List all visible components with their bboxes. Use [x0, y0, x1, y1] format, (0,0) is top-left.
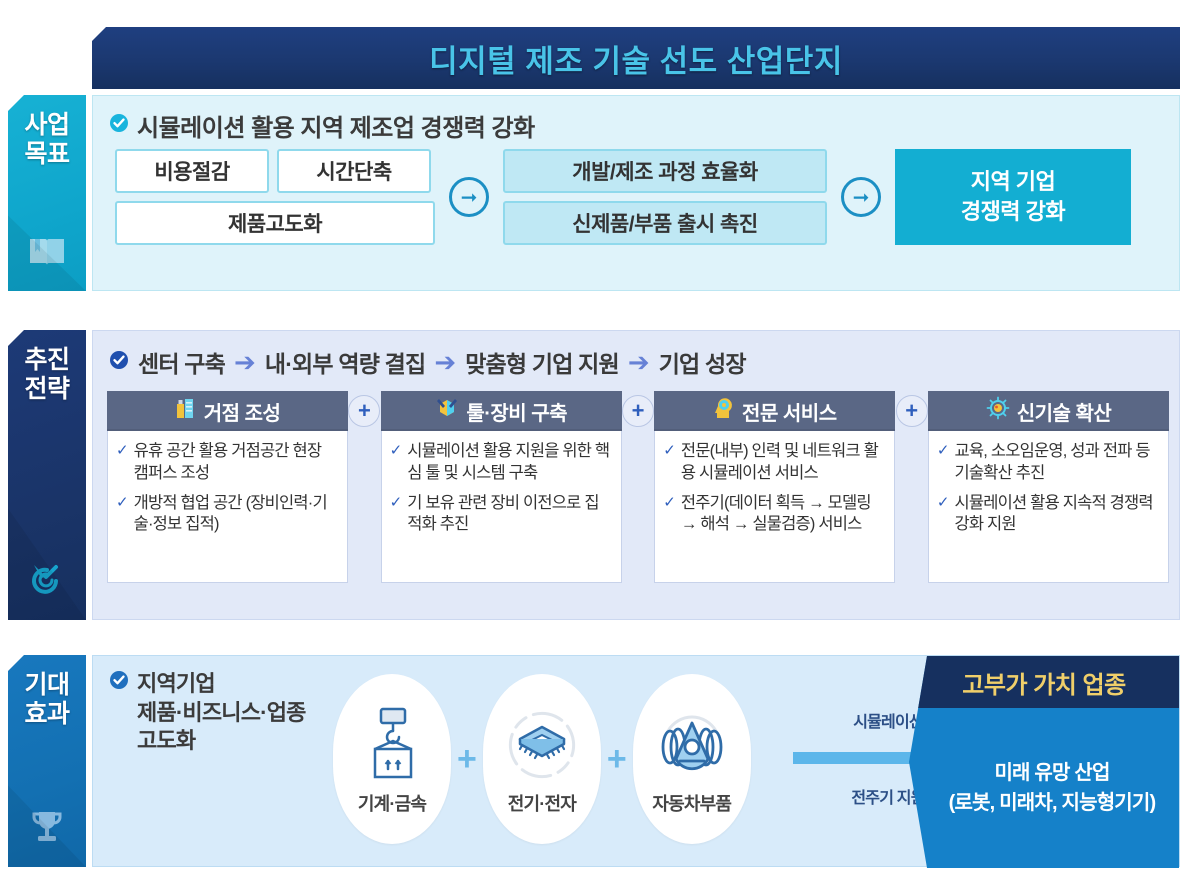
sidebar-tab-expected-effect: 기대 효과	[8, 655, 86, 867]
strategy-column-title: 거점 조성	[204, 397, 281, 426]
goal-result-box: 지역 기업 경쟁력 강화	[895, 149, 1131, 245]
strategy-flow-step: 기업 성장	[659, 345, 746, 379]
strategy-bullet-text: 교육, 소오임운영, 성과 전파 등 기술확산 추진	[955, 441, 1161, 485]
book-icon	[27, 234, 67, 275]
sidebar-tab-label-line2: 전략	[24, 375, 69, 404]
industry-label: 기계·금속	[358, 790, 426, 816]
strategy-bullet: ✓ 개방적 협업 공간 (장비인력·기술·정보 집적)	[116, 493, 339, 537]
plus-icon: +	[896, 395, 928, 427]
industry-item-machine-metal: 기계·금속	[333, 674, 451, 844]
sidebar-tab-label-line1: 추진	[24, 346, 69, 375]
section-expected-effect: 기대 효과 지역기업 제품·비즈니스·업종 고도화	[0, 655, 1200, 885]
strategy-bullet-text: 유휴 공간 활용 거점공간 현장 캠퍼스 조성	[134, 441, 340, 485]
sidebar-tab-label-line1: 사업	[24, 111, 69, 140]
strategy-column-title: 전문 서비스	[742, 397, 837, 426]
strategy-bullet-text: 기 보유 관련 장비 이전으로 집적화 추진	[407, 493, 613, 537]
arrow-right-circle-icon: ➞	[841, 177, 881, 217]
future-industry-header: 고부가 가치 업종	[909, 656, 1179, 708]
plus-icon: +	[348, 395, 380, 427]
crane-box-icon	[357, 702, 427, 788]
section-business-goal: 사업 목표 시뮬레이션 활용 지역 제조업 경쟁력 강화 비용절감 시간	[0, 95, 1200, 303]
sidebar-tab-label-line2: 목표	[24, 140, 69, 169]
strategy-bullet-text: 개방적 협업 공간 (장비인력·기술·정보 집적)	[134, 493, 340, 537]
strategy-column-body: ✓ 시뮬레이션 활용 지원을 위한 핵심 툴 및 시스템 구축 ✓ 기 보유 관…	[381, 431, 622, 583]
effect-headline-line3: 고도화	[137, 727, 306, 756]
sidebar-tab-label-business-goal: 사업 목표	[24, 111, 69, 169]
strategy-bullet-text: 시뮬레이션 활용 지원을 위한 핵심 툴 및 시스템 구축	[407, 441, 613, 485]
strategy-column-newtech: 신기술 확산 ✓ 교육, 소오임운영, 성과 전파 등 기술확산 추진 ✓ 시뮬…	[928, 391, 1169, 583]
check-icon: ✓	[116, 441, 129, 485]
check-icon: ✓	[937, 441, 950, 485]
strategy-column-body: ✓ 유휴 공간 활용 거점공간 현장 캠퍼스 조성 ✓ 개방적 협업 공간 (장…	[107, 431, 348, 583]
strategy-bullet-text: 전문(내부) 인력 및 네트워크 활용 시뮬레이션 서비스	[681, 441, 887, 485]
sidebar-tab-business-goal: 사업 목표	[8, 95, 86, 291]
goal-input-group: 비용절감 시간단축 제품고도화	[115, 149, 435, 245]
arrow-right-icon: ➔	[434, 349, 456, 375]
industry-label: 자동차부품	[652, 790, 731, 816]
strategy-column-header: 신기술 확산	[928, 391, 1169, 431]
business-goal-flow: 비용절감 시간단축 제품고도화 ➞ 개발/제조 과정 효율화 신제품/부품 출시…	[93, 143, 1179, 245]
sidebar-tab-label-line1: 기대	[24, 671, 69, 700]
sidebar-tab-label-strategy: 추진 전략	[24, 346, 69, 404]
strategy-column-tools: 툴·장비 구축 ✓ 시뮬레이션 활용 지원을 위한 핵심 툴 및 시스템 구축 …	[381, 391, 622, 583]
strategy-flow-row: 센터 구축 ➔ 내·외부 역량 결집 ➔ 맞춤형 기업 지원 ➔ 기업 성장	[93, 331, 1179, 379]
check-icon: ✓	[663, 493, 676, 537]
strategy-bullet: ✓ 시뮬레이션 활용 지원을 위한 핵심 툴 및 시스템 구축	[390, 441, 613, 485]
strategy-bullet-text: 시뮬레이션 활용 지속적 경쟁력 강화 지원	[955, 493, 1161, 537]
strategy-bullet: ✓ 교육, 소오임운영, 성과 전파 등 기술확산 추진	[937, 441, 1160, 485]
future-industry-line1: 미래 유망 산업	[994, 758, 1109, 788]
panel-expected-effect: 지역기업 제품·비즈니스·업종 고도화	[92, 655, 1180, 867]
check-circle-icon	[109, 670, 129, 695]
strategy-bullet: ✓ 전문(내부) 인력 및 네트워크 활용 시뮬레이션 서비스	[663, 441, 886, 485]
check-circle-icon	[109, 113, 129, 138]
industry-label: 전기·전자	[508, 790, 576, 816]
section-strategy: 추진 전략 센터 구축 ➔ 내·외부 역량 결집 ➔ 맞춤형 기업 지원 ➔ 기…	[0, 330, 1200, 630]
sidebar-tab-label-expected-effect: 기대 효과	[24, 671, 69, 729]
strategy-column-header: 전문 서비스	[654, 391, 895, 431]
industry-item-auto-parts: 자동차부품	[633, 674, 751, 844]
plus-icon: +	[607, 742, 627, 776]
goal-input-box: 시간단축	[277, 149, 431, 193]
strategy-column-title: 신기술 확산	[1017, 397, 1112, 426]
plus-icon: +	[622, 395, 654, 427]
effect-headline-line2: 제품·비즈니스·업종	[137, 699, 306, 728]
plus-separator: +	[348, 391, 381, 583]
panel-strategy: 센터 구축 ➔ 내·외부 역량 결집 ➔ 맞춤형 기업 지원 ➔ 기업 성장	[92, 330, 1180, 620]
strategy-column-header: 거점 조성	[107, 391, 348, 431]
arrow-right-icon: ➔	[234, 349, 256, 375]
check-icon: ✓	[116, 493, 129, 537]
page-title-banner: 디지털 제조 기술 선도 산업단지	[92, 27, 1180, 89]
trophy-icon	[29, 808, 65, 851]
strategy-column-body: ✓ 교육, 소오임운영, 성과 전파 등 기술확산 추진 ✓ 시뮬레이션 활용 …	[928, 431, 1169, 583]
goal-result-line2: 경쟁력 강화	[961, 197, 1065, 227]
strategy-bullet: ✓ 기 보유 관련 장비 이전으로 집적화 추진	[390, 493, 613, 537]
effect-headline-line1: 지역기업	[137, 670, 306, 699]
goal-middle-box: 개발/제조 과정 효율화	[503, 149, 827, 193]
industry-item-electric-electronic: 전기·전자	[483, 674, 601, 844]
industry-row: 기계·금속 +	[333, 674, 751, 844]
building-tower-icon	[175, 396, 197, 426]
strategy-bullet: ✓ 전주기(데이터 획득 → 모델링 → 해석 → 실물검증) 서비스	[663, 493, 886, 537]
strategy-column-body: ✓ 전문(내부) 인력 및 네트워크 활용 시뮬레이션 서비스 ✓ 전주기(데이…	[654, 431, 895, 583]
plus-separator: +	[895, 391, 928, 583]
strategy-columns: 거점 조성 ✓ 유휴 공간 활용 거점공간 현장 캠퍼스 조성 ✓ 개방적 협업…	[93, 379, 1179, 583]
future-industry-body: 미래 유망 산업 (로봇, 미래차, 지능형기기)	[909, 708, 1179, 868]
goal-input-box: 제품고도화	[115, 201, 435, 245]
strategy-bullet: ✓ 유휴 공간 활용 거점공간 현장 캠퍼스 조성	[116, 441, 339, 485]
plus-separator: +	[622, 391, 655, 583]
check-icon: ✓	[390, 493, 403, 537]
goal-result-line1: 지역 기업	[971, 167, 1056, 197]
tools-cube-icon	[435, 396, 459, 426]
goal-input-box: 비용절감	[115, 149, 269, 193]
arrow-right-circle-icon: ➞	[449, 177, 489, 217]
page-title: 디지털 제조 기술 선도 산업단지	[429, 36, 843, 81]
goal-middle-group: 개발/제조 과정 효율화 신제품/부품 출시 촉진	[503, 149, 827, 245]
future-industry-line2: (로봇, 미래차, 지능형기기)	[949, 788, 1156, 818]
goal-middle-box: 신제품/부품 출시 촉진	[503, 201, 827, 245]
business-goal-headline-row: 시뮬레이션 활용 지역 제조업 경쟁력 강화	[93, 96, 1179, 143]
check-circle-icon	[109, 350, 129, 375]
effect-headline: 지역기업 제품·비즈니스·업종 고도화	[137, 670, 306, 756]
sidebar-tab-label-line2: 효과	[24, 700, 69, 729]
engine-piston-icon	[650, 702, 734, 788]
strategy-bullet-text: 전주기(데이터 획득 → 모델링 → 해석 → 실물검증) 서비스	[681, 493, 887, 537]
strategy-flow-step: 내·외부 역량 결집	[265, 345, 426, 379]
strategy-flow-step: 센터 구축	[138, 345, 225, 379]
plus-icon: +	[457, 742, 477, 776]
innovation-atom-icon	[986, 396, 1010, 426]
arrow-right-icon: ➔	[628, 349, 650, 375]
check-icon: ✓	[390, 441, 403, 485]
check-icon: ✓	[937, 493, 950, 537]
head-idea-icon	[713, 396, 735, 426]
target-arrow-icon	[26, 559, 68, 604]
strategy-column-title: 툴·장비 구축	[466, 397, 567, 426]
effect-headline-row: 지역기업 제품·비즈니스·업종 고도화	[93, 656, 306, 756]
business-goal-headline: 시뮬레이션 활용 지역 제조업 경쟁력 강화	[137, 108, 535, 143]
strategy-column-header: 툴·장비 구축	[381, 391, 622, 431]
panel-business-goal: 시뮬레이션 활용 지역 제조업 경쟁력 강화 비용절감 시간단축 제품고도화 ➞…	[92, 95, 1180, 291]
strategy-column-service: 전문 서비스 ✓ 전문(내부) 인력 및 네트워크 활용 시뮬레이션 서비스 ✓…	[654, 391, 895, 583]
microchip-icon	[502, 702, 582, 788]
check-icon: ✓	[663, 441, 676, 485]
strategy-bullet: ✓ 시뮬레이션 활용 지속적 경쟁력 강화 지원	[937, 493, 1160, 537]
strategy-column-base: 거점 조성 ✓ 유휴 공간 활용 거점공간 현장 캠퍼스 조성 ✓ 개방적 협업…	[107, 391, 348, 583]
strategy-flow-step: 맞춤형 기업 지원	[465, 345, 619, 379]
future-industry-card: 고부가 가치 업종 미래 유망 산업 (로봇, 미래차, 지능형기기)	[909, 656, 1179, 868]
sidebar-tab-strategy: 추진 전략	[8, 330, 86, 620]
